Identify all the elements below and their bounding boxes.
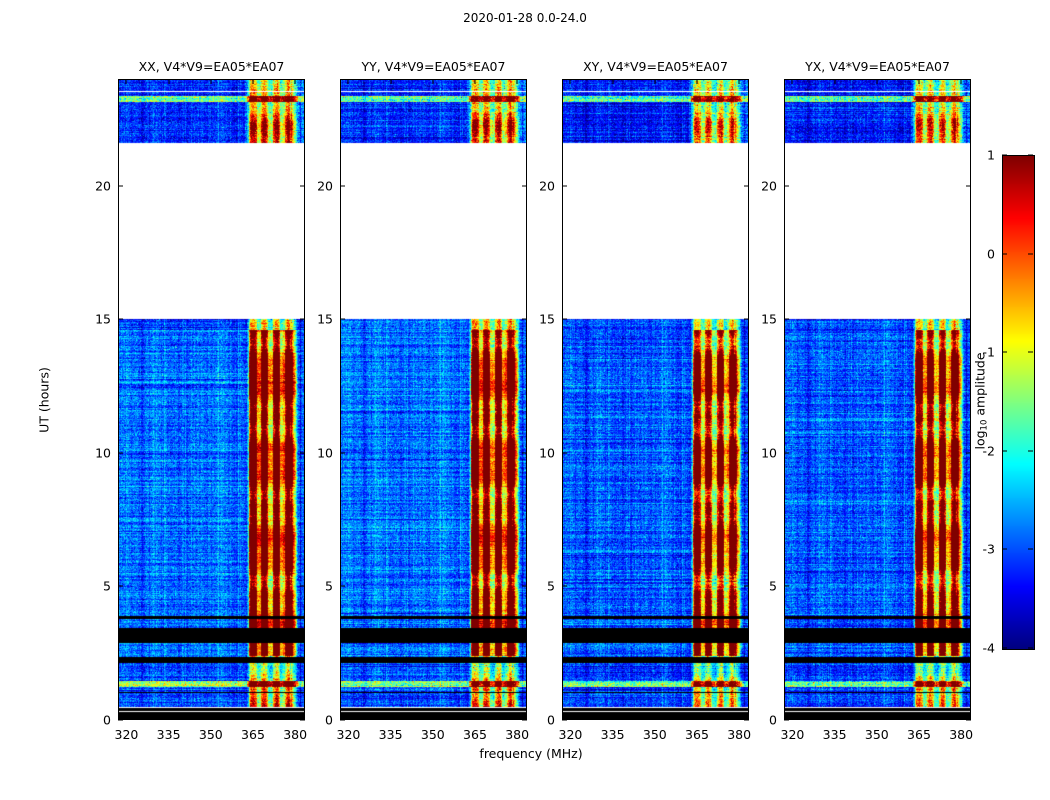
x-tick-label: 320 (780, 720, 804, 742)
y-tick-mark (784, 319, 789, 320)
colorbar-tick-mark (1028, 253, 1033, 254)
y-tick-label: 20 (317, 178, 340, 193)
y-tick-label: 10 (317, 445, 340, 460)
colorbar-tick-mark (1028, 352, 1033, 353)
x-tick-mark (570, 79, 571, 84)
y-tick-mark (300, 452, 305, 453)
y-tick-mark (784, 452, 789, 453)
x-tick-label: 365 (907, 720, 931, 742)
spectrogram-panel-yx[interactable]: YX, V4*V9=EA05*EA07051015203203353503653… (784, 79, 971, 720)
colorbar-tick-mark (1028, 450, 1033, 451)
y-tick-mark (522, 319, 527, 320)
x-tick-mark (612, 79, 613, 84)
x-tick-mark (390, 715, 391, 720)
y-tick-mark (562, 452, 567, 453)
panel-frame (340, 79, 527, 720)
x-tick-mark (210, 715, 211, 720)
spectrogram-panel-yy[interactable]: YY, V4*V9=EA05*EA07051015203203353503653… (340, 79, 527, 720)
y-tick-label: 10 (761, 445, 784, 460)
x-tick-mark (876, 79, 877, 84)
colorbar-label: log10 amplitude (972, 352, 989, 449)
panel-title: YX, V4*V9=EA05*EA07 (784, 59, 971, 79)
x-tick-mark (739, 79, 740, 84)
x-tick-mark (696, 715, 697, 720)
colorbar-tick-mark (1002, 648, 1007, 649)
x-tick-label: 320 (114, 720, 138, 742)
x-tick-label: 335 (823, 720, 847, 742)
colorbar-tick-label: -4 (983, 641, 1002, 656)
y-tick-mark (784, 185, 789, 186)
colorbar: -4-3-2-101 (1002, 155, 1033, 648)
y-tick-label: 15 (761, 312, 784, 327)
x-tick-mark (168, 79, 169, 84)
x-tick-label: 350 (421, 720, 445, 742)
x-tick-mark (517, 715, 518, 720)
x-tick-mark (252, 79, 253, 84)
figure-canvas: 2020-01-28 0.0-24.0 UT (hours) frequency… (0, 0, 1050, 800)
x-tick-mark (126, 79, 127, 84)
x-tick-mark (876, 715, 877, 720)
y-axis-label: UT (hours) (37, 367, 52, 433)
x-tick-mark (126, 715, 127, 720)
y-tick-mark (118, 319, 123, 320)
x-tick-mark (517, 79, 518, 84)
x-tick-label: 380 (949, 720, 973, 742)
colorbar-tick-mark (1002, 253, 1007, 254)
y-tick-mark (300, 185, 305, 186)
y-tick-mark (118, 452, 123, 453)
y-tick-mark (522, 185, 527, 186)
colorbar-gradient (1002, 155, 1035, 650)
y-tick-mark (966, 586, 971, 587)
x-tick-mark (348, 79, 349, 84)
x-tick-mark (474, 715, 475, 720)
x-tick-mark (432, 79, 433, 84)
x-tick-mark (168, 715, 169, 720)
x-tick-label: 350 (643, 720, 667, 742)
y-tick-mark (562, 319, 567, 320)
colorbar-tick-label: 0 (987, 246, 1002, 261)
x-tick-mark (570, 715, 571, 720)
x-tick-label: 380 (505, 720, 529, 742)
x-tick-mark (390, 79, 391, 84)
x-tick-mark (612, 715, 613, 720)
y-tick-mark (966, 185, 971, 186)
x-tick-mark (474, 79, 475, 84)
y-tick-label: 10 (539, 445, 562, 460)
panel-frame (562, 79, 749, 720)
x-tick-label: 365 (463, 720, 487, 742)
y-tick-label: 5 (325, 579, 340, 594)
x-tick-mark (252, 715, 253, 720)
x-tick-label: 335 (601, 720, 625, 742)
colorbar-label-base: log (972, 430, 987, 449)
y-tick-label: 5 (769, 579, 784, 594)
y-tick-mark (744, 319, 749, 320)
panel-frame (784, 79, 971, 720)
y-tick-mark (744, 586, 749, 587)
y-tick-mark (118, 185, 123, 186)
x-tick-mark (654, 715, 655, 720)
x-tick-mark (961, 715, 962, 720)
y-tick-mark (562, 586, 567, 587)
colorbar-tick-mark (1028, 549, 1033, 550)
colorbar-tick-mark (1002, 549, 1007, 550)
x-tick-label: 350 (199, 720, 223, 742)
y-tick-mark (300, 586, 305, 587)
x-axis-label: frequency (MHz) (479, 746, 582, 761)
x-tick-mark (792, 79, 793, 84)
x-tick-mark (696, 79, 697, 84)
y-tick-mark (522, 586, 527, 587)
x-tick-mark (834, 715, 835, 720)
x-tick-mark (918, 715, 919, 720)
y-tick-mark (340, 319, 345, 320)
x-tick-mark (918, 79, 919, 84)
colorbar-label-subscript: 10 (980, 420, 990, 431)
y-tick-mark (744, 185, 749, 186)
y-tick-label: 15 (317, 312, 340, 327)
colorbar-label-tail: amplitude (972, 352, 987, 419)
x-tick-mark (295, 79, 296, 84)
y-tick-mark (340, 452, 345, 453)
y-tick-mark (340, 586, 345, 587)
x-tick-label: 380 (283, 720, 307, 742)
panel-title: YY, V4*V9=EA05*EA07 (340, 59, 527, 79)
colorbar-tick-mark (1028, 155, 1033, 156)
x-tick-mark (834, 79, 835, 84)
y-tick-mark (966, 452, 971, 453)
x-tick-label: 380 (727, 720, 751, 742)
y-tick-label: 5 (547, 579, 562, 594)
x-tick-mark (654, 79, 655, 84)
y-tick-mark (966, 319, 971, 320)
x-tick-mark (739, 715, 740, 720)
colorbar-tick-mark (1002, 450, 1007, 451)
x-tick-mark (432, 715, 433, 720)
x-tick-mark (295, 715, 296, 720)
y-tick-label: 20 (539, 178, 562, 193)
y-tick-label: 20 (95, 178, 118, 193)
colorbar-tick-mark (1002, 352, 1007, 353)
x-tick-mark (210, 79, 211, 84)
x-tick-label: 365 (685, 720, 709, 742)
y-tick-label: 15 (539, 312, 562, 327)
panel-frame (118, 79, 305, 720)
panel-title: XY, V4*V9=EA05*EA07 (562, 59, 749, 79)
y-tick-label: 20 (761, 178, 784, 193)
x-tick-mark (348, 715, 349, 720)
x-tick-label: 365 (241, 720, 265, 742)
figure-title: 2020-01-28 0.0-24.0 (0, 11, 1050, 25)
y-tick-mark (784, 586, 789, 587)
spectrogram-panel-xy[interactable]: XY, V4*V9=EA05*EA07051015203203353503653… (562, 79, 749, 720)
colorbar-tick-mark (1002, 155, 1007, 156)
y-tick-mark (118, 586, 123, 587)
y-tick-label: 15 (95, 312, 118, 327)
x-tick-label: 320 (336, 720, 360, 742)
y-tick-mark (522, 452, 527, 453)
colorbar-tick-mark (1028, 648, 1033, 649)
x-tick-mark (961, 79, 962, 84)
x-tick-label: 335 (157, 720, 181, 742)
x-tick-label: 320 (558, 720, 582, 742)
y-tick-mark (562, 185, 567, 186)
x-tick-label: 335 (379, 720, 403, 742)
colorbar-tick-label: 1 (987, 148, 1002, 163)
panel-title: XX, V4*V9=EA05*EA07 (118, 59, 305, 79)
y-tick-mark (300, 319, 305, 320)
y-tick-label: 10 (95, 445, 118, 460)
y-tick-mark (744, 452, 749, 453)
y-tick-mark (340, 185, 345, 186)
x-tick-label: 350 (865, 720, 889, 742)
spectrogram-panel-xx[interactable]: XX, V4*V9=EA05*EA07051015203203353503653… (118, 79, 305, 720)
colorbar-tick-label: -3 (983, 542, 1002, 557)
y-tick-label: 5 (103, 579, 118, 594)
x-tick-mark (792, 715, 793, 720)
